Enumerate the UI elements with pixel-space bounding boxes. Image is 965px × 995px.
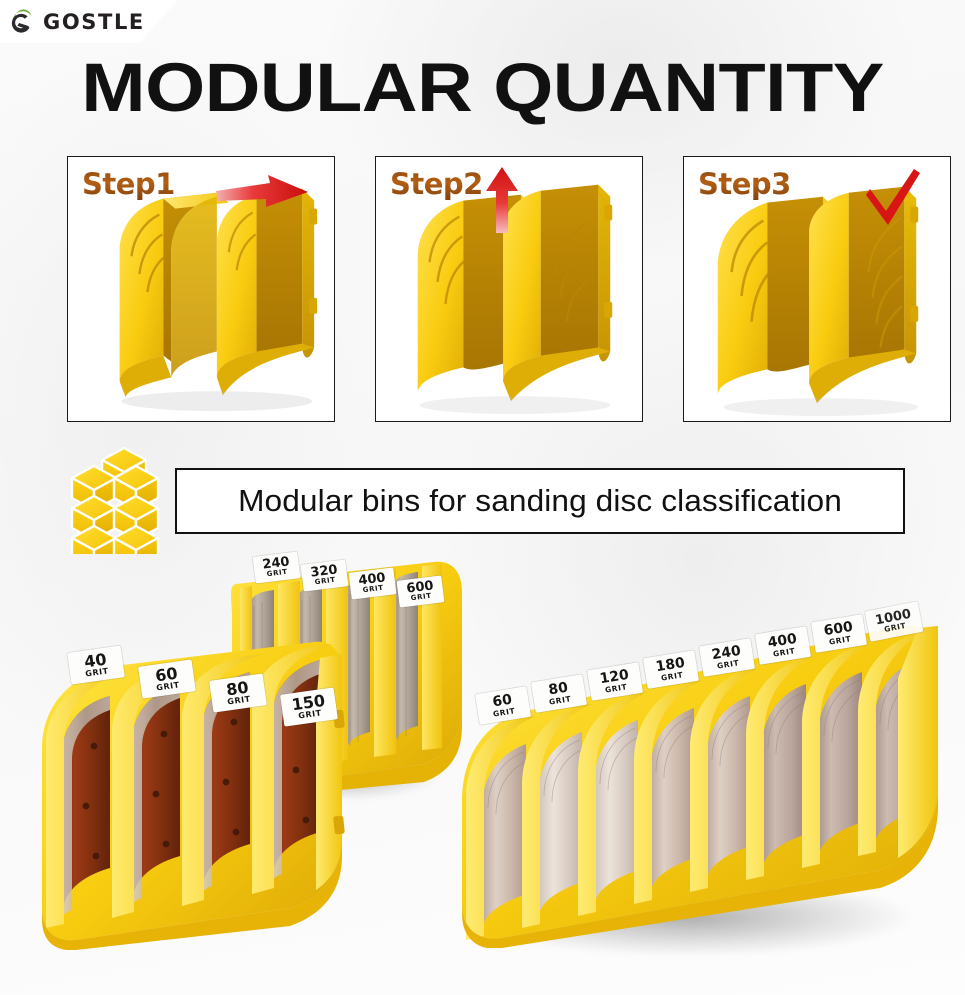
step-panel-2: Step2 xyxy=(375,156,643,422)
page-title: MODULAR QUANTITY xyxy=(0,52,965,124)
step-label-1: Step1 xyxy=(82,167,175,201)
check-mark-icon xyxy=(860,167,926,231)
arrow-right-icon xyxy=(214,173,310,213)
grit-label-back-1: 240 GRIT xyxy=(253,551,301,583)
stacked-blocks-icon xyxy=(62,446,190,554)
caption-banner: Modular bins for sanding disc classifica… xyxy=(0,446,965,554)
brand-logo: GOSTLE xyxy=(0,0,178,43)
swirl-logo-icon xyxy=(7,7,37,37)
step-label-2: Step2 xyxy=(390,167,483,201)
grit-label-back-2: 320 GRIT xyxy=(301,559,349,591)
grit-label-back-3: 400 GRIT xyxy=(349,567,397,599)
right-long-bin: 60 GRIT 80 GRIT 120 GRIT 180 GRIT 240 GR… xyxy=(452,618,957,948)
brand-name: GOSTLE xyxy=(43,10,145,34)
caption-box: Modular bins for sanding disc classifica… xyxy=(175,468,905,534)
front-left-bin: 40 GRIT 60 GRIT 80 GRIT 150 GRIT xyxy=(28,640,348,950)
grit-label-back-4: 600 GRIT xyxy=(397,575,445,607)
steps-row: Step1 xyxy=(0,156,965,424)
step-panel-3: Step3 xyxy=(683,156,951,422)
step-panel-1: Step1 xyxy=(67,156,335,422)
arrow-up-icon xyxy=(482,165,522,235)
product-photo-group: 240 GRIT 320 GRIT 400 GRIT 600 GRIT xyxy=(0,548,965,995)
caption-text: Modular bins for sanding disc classifica… xyxy=(238,483,842,519)
infographic-page: GOSTLE MODULAR QUANTITY xyxy=(0,0,965,995)
step-label-3: Step3 xyxy=(698,167,791,201)
